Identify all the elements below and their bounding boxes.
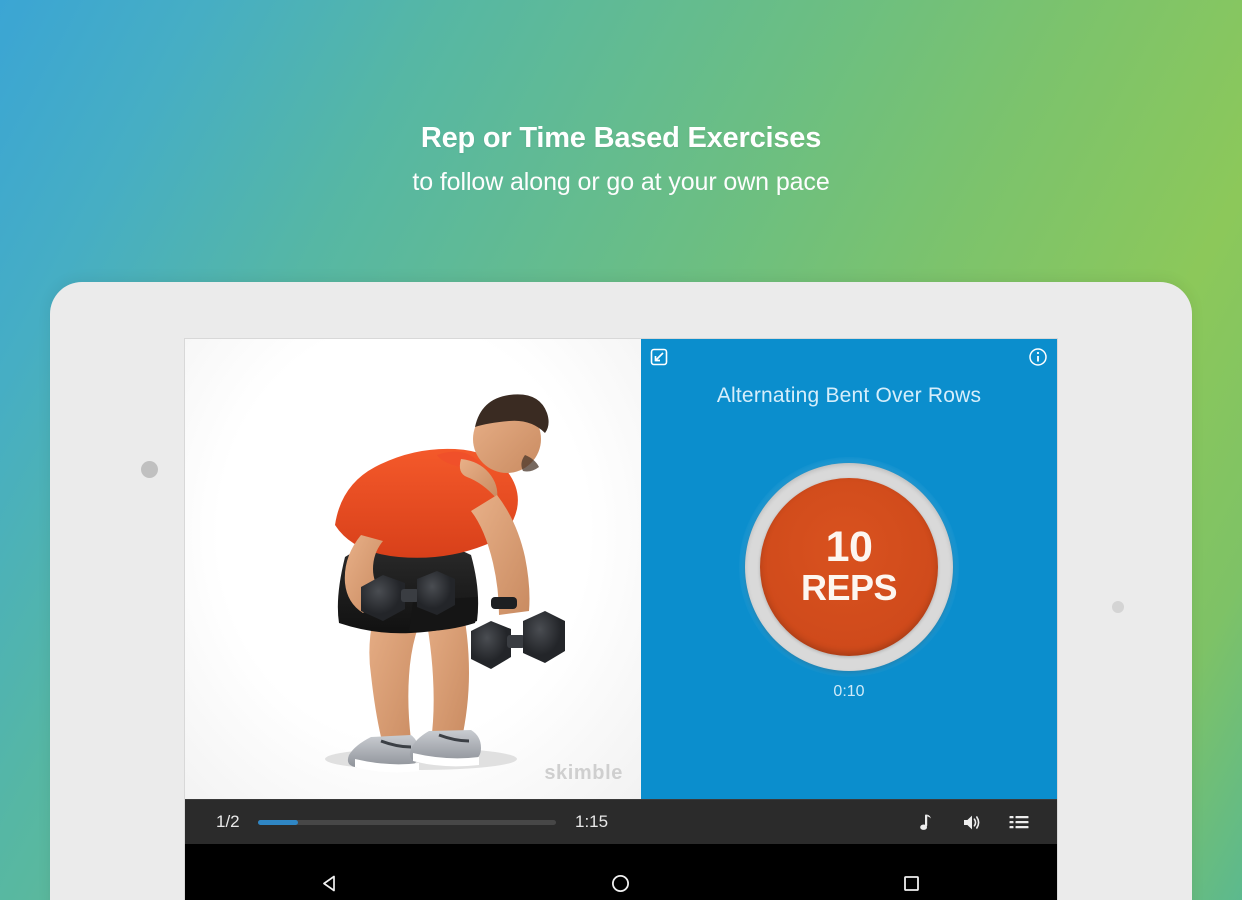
info-circle-icon[interactable] [1028, 347, 1048, 367]
recents-square-icon[interactable] [885, 856, 939, 900]
rep-counter[interactable]: 10 REPS [745, 463, 953, 671]
promo-subheadline: to follow along or go at your own pace [0, 168, 1242, 197]
tablet-screen: skimble [185, 339, 1057, 900]
time-remaining-label: 1:15 [575, 812, 608, 832]
dumbbell-lower [471, 611, 565, 669]
back-triangle-icon[interactable] [303, 856, 357, 900]
promo-screenshot: Rep or Time Based Exercises to follow al… [0, 0, 1242, 900]
workout-content-area: skimble [185, 339, 1057, 799]
workout-progress-bar[interactable] [258, 820, 556, 825]
exercise-position-label: 1/2 [216, 812, 254, 832]
tablet-device: skimble [50, 282, 1192, 900]
rep-count-value: 10 [826, 526, 873, 569]
exercise-rep-pane: Alternating Bent Over Rows 10 REPS 0:10 [641, 339, 1057, 799]
skimble-watermark: skimble [544, 762, 623, 785]
exercise-photo-pane[interactable]: skimble [185, 339, 641, 799]
collapse-arrow-icon[interactable] [649, 347, 669, 367]
sensor-dot-icon [1112, 601, 1124, 613]
camera-dot-icon [141, 461, 158, 478]
volume-icon[interactable] [961, 812, 982, 833]
exercise-title: Alternating Bent Over Rows [641, 384, 1057, 408]
rep-count-unit: REPS [801, 569, 897, 608]
rep-counter-face: 10 REPS [760, 478, 938, 656]
exercise-photo-illustration [185, 339, 641, 799]
workout-progress-fill [258, 820, 298, 825]
android-navigation-bar [185, 844, 1057, 900]
music-note-icon[interactable] [914, 812, 935, 833]
promo-text-block: Rep or Time Based Exercises to follow al… [0, 120, 1242, 197]
promo-headline: Rep or Time Based Exercises [0, 120, 1242, 156]
workout-player-bar: 1/2 1:15 [185, 799, 1057, 844]
player-icon-group [914, 812, 1029, 833]
exercise-timer: 0:10 [641, 683, 1057, 701]
playlist-icon[interactable] [1008, 812, 1029, 833]
home-circle-icon[interactable] [594, 856, 648, 900]
